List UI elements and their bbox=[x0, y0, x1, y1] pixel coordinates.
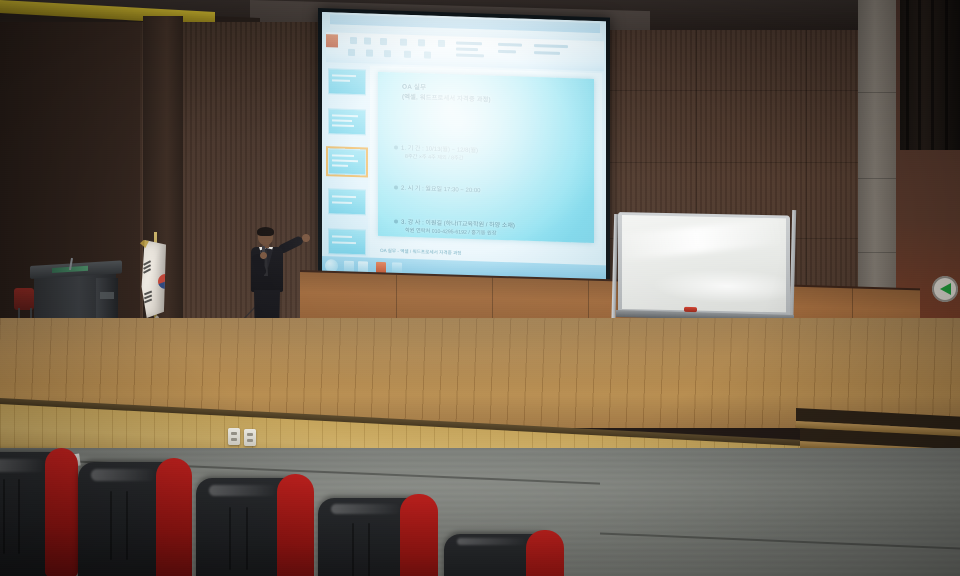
auditorium-seat[interactable] bbox=[318, 498, 430, 576]
slide-thumbnail[interactable] bbox=[328, 188, 366, 215]
current-slide[interactable]: OA 실무 (엑셀, 워드프로세서 자격증 과정) 1. 기 간 : 10/13… bbox=[378, 72, 594, 243]
auditorium-seat[interactable] bbox=[78, 462, 184, 576]
wall-outlet-left-a[interactable] bbox=[228, 428, 240, 445]
whiteboard-marker-icon[interactable] bbox=[684, 307, 697, 312]
slide-thumbnail[interactable] bbox=[328, 108, 366, 135]
auditorium-seat[interactable] bbox=[196, 478, 306, 576]
slide-editing-area[interactable]: OA 실무 (엑셀, 워드프로세서 자격증 과정) 1. 기 간 : 10/13… bbox=[370, 66, 602, 266]
powerpoint-file-tab[interactable] bbox=[326, 34, 338, 47]
powerpoint-window: OA 실무 (엑셀, 워드프로세서 자격증 과정) 1. 기 간 : 10/13… bbox=[322, 12, 606, 285]
presenter-mic-hand bbox=[260, 252, 267, 259]
slide-footer-text: OA 실무 - 엑셀 / 워드프로세서 자격증 과정 bbox=[380, 248, 462, 257]
presenter-hair bbox=[257, 227, 274, 236]
lecture-hall-photo: OA 실무 (엑셀, 워드프로세서 자격증 과정) 1. 기 간 : 10/13… bbox=[0, 0, 960, 576]
slide-thumbnail[interactable] bbox=[328, 68, 366, 95]
emergency-exit-icon bbox=[932, 276, 958, 302]
auditorium-seat[interactable] bbox=[444, 534, 556, 576]
whiteboard-surface[interactable] bbox=[622, 215, 786, 312]
taeguk-symbol-icon bbox=[158, 274, 173, 289]
stage-chair bbox=[14, 288, 34, 310]
slide-thumbnail-selected[interactable] bbox=[328, 148, 366, 175]
projection-screen: OA 실무 (엑셀, 워드프로세서 자격증 과정) 1. 기 간 : 10/13… bbox=[322, 12, 606, 285]
presenter-raised-hand bbox=[302, 234, 310, 242]
taegukgi-flag bbox=[140, 240, 166, 318]
slide-thumbnail[interactable] bbox=[328, 228, 366, 255]
wall-outlet-left-b[interactable] bbox=[244, 429, 256, 446]
slide-thumbnail-panel[interactable] bbox=[324, 64, 368, 257]
lectern-slot bbox=[100, 292, 114, 299]
auditorium-seat[interactable] bbox=[0, 452, 70, 576]
stage-curtain bbox=[900, 0, 960, 150]
